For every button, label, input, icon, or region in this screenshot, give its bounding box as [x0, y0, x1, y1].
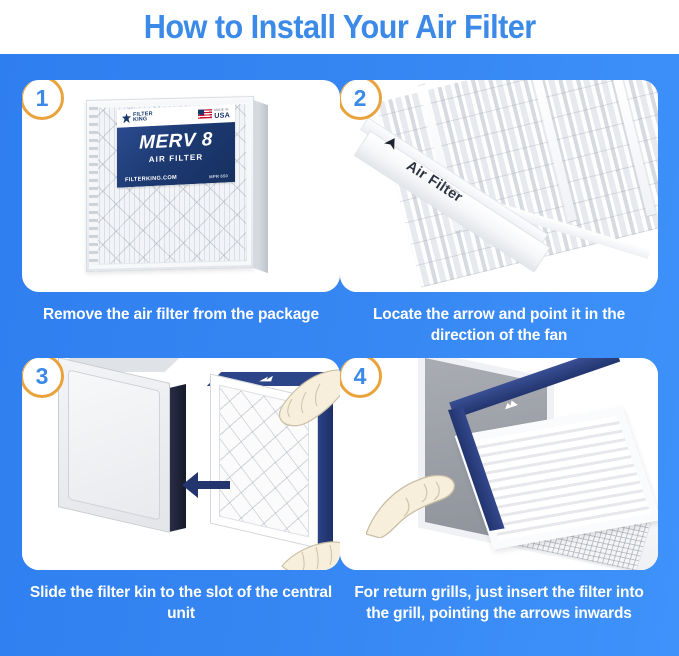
made-in-usa-badge: MADE IN USA [198, 108, 230, 120]
step-2-image-card: 2 Air Filter AIRFLOW [340, 80, 658, 292]
hand-opening-grille-icon [366, 446, 476, 538]
step-card-4: 4 [340, 358, 658, 624]
step-4-caption: For return grills, just insert the filte… [340, 583, 658, 624]
website-label: FILTERKING.COM [125, 175, 177, 184]
step-card-2: 2 Air Filter AIRFLOW Locate the arrow [340, 80, 658, 346]
step-2-caption: Locate the arrow and point it in the dir… [340, 305, 658, 346]
step-3-caption: Slide the filter kin to the slot of the … [22, 583, 340, 624]
label-footer: FILTERKING.COM MPR 650 [125, 172, 228, 183]
filter-front-face: FILTER KING MADE IN USA [86, 96, 254, 272]
central-unit-front-face [58, 358, 170, 533]
product-label: FILTER KING MADE IN USA [117, 104, 235, 188]
made-in-usa-text: MADE IN USA [214, 108, 230, 119]
central-unit-panel [68, 369, 160, 520]
return-grille-insert-illustration [340, 358, 658, 570]
filter-left-lip [89, 107, 98, 265]
country-label: USA [214, 111, 230, 119]
slide-filter-into-unit-illustration [22, 358, 340, 570]
step-card-3: 3 [22, 358, 340, 624]
brand-name: FILTER KING [133, 111, 153, 123]
crown-icon [122, 113, 131, 123]
pleated-filter-corner-photo: Air Filter AIRFLOW [340, 80, 658, 292]
step-4-image-card: 4 [340, 358, 658, 570]
central-unit-slot [169, 384, 186, 532]
brand-lockup: FILTER KING [122, 111, 153, 123]
title-band: How to Install Your Air Filter [0, 0, 679, 54]
brand-line-2: KING [133, 116, 147, 123]
page-title: How to Install Your Air Filter [144, 8, 536, 46]
mpr-rating-label: MPR 650 [209, 173, 228, 179]
infographic-root: How to Install Your Air Filter 1 [0, 0, 679, 656]
step-1-image-card: 1 FILTER [22, 80, 340, 292]
label-body: MERV 8 AIR FILTER FILTERKING.COM MPR 650 [117, 122, 235, 188]
step-1-caption: Remove the air filter from the package [22, 305, 340, 326]
steps-grid: 1 FILTER [0, 54, 679, 656]
air-filter-product-photo: FILTER KING MADE IN USA [22, 80, 340, 292]
step-card-1: 1 FILTER [22, 80, 340, 326]
insert-direction-arrow-icon [180, 468, 230, 502]
us-flag-icon [198, 110, 212, 120]
merv-rating: MERV 8 [125, 129, 227, 153]
hand-gripping-filter-top-icon [262, 366, 340, 432]
step-3-image-card: 3 [22, 358, 340, 570]
hand-supporting-filter-bottom-icon [280, 536, 340, 570]
